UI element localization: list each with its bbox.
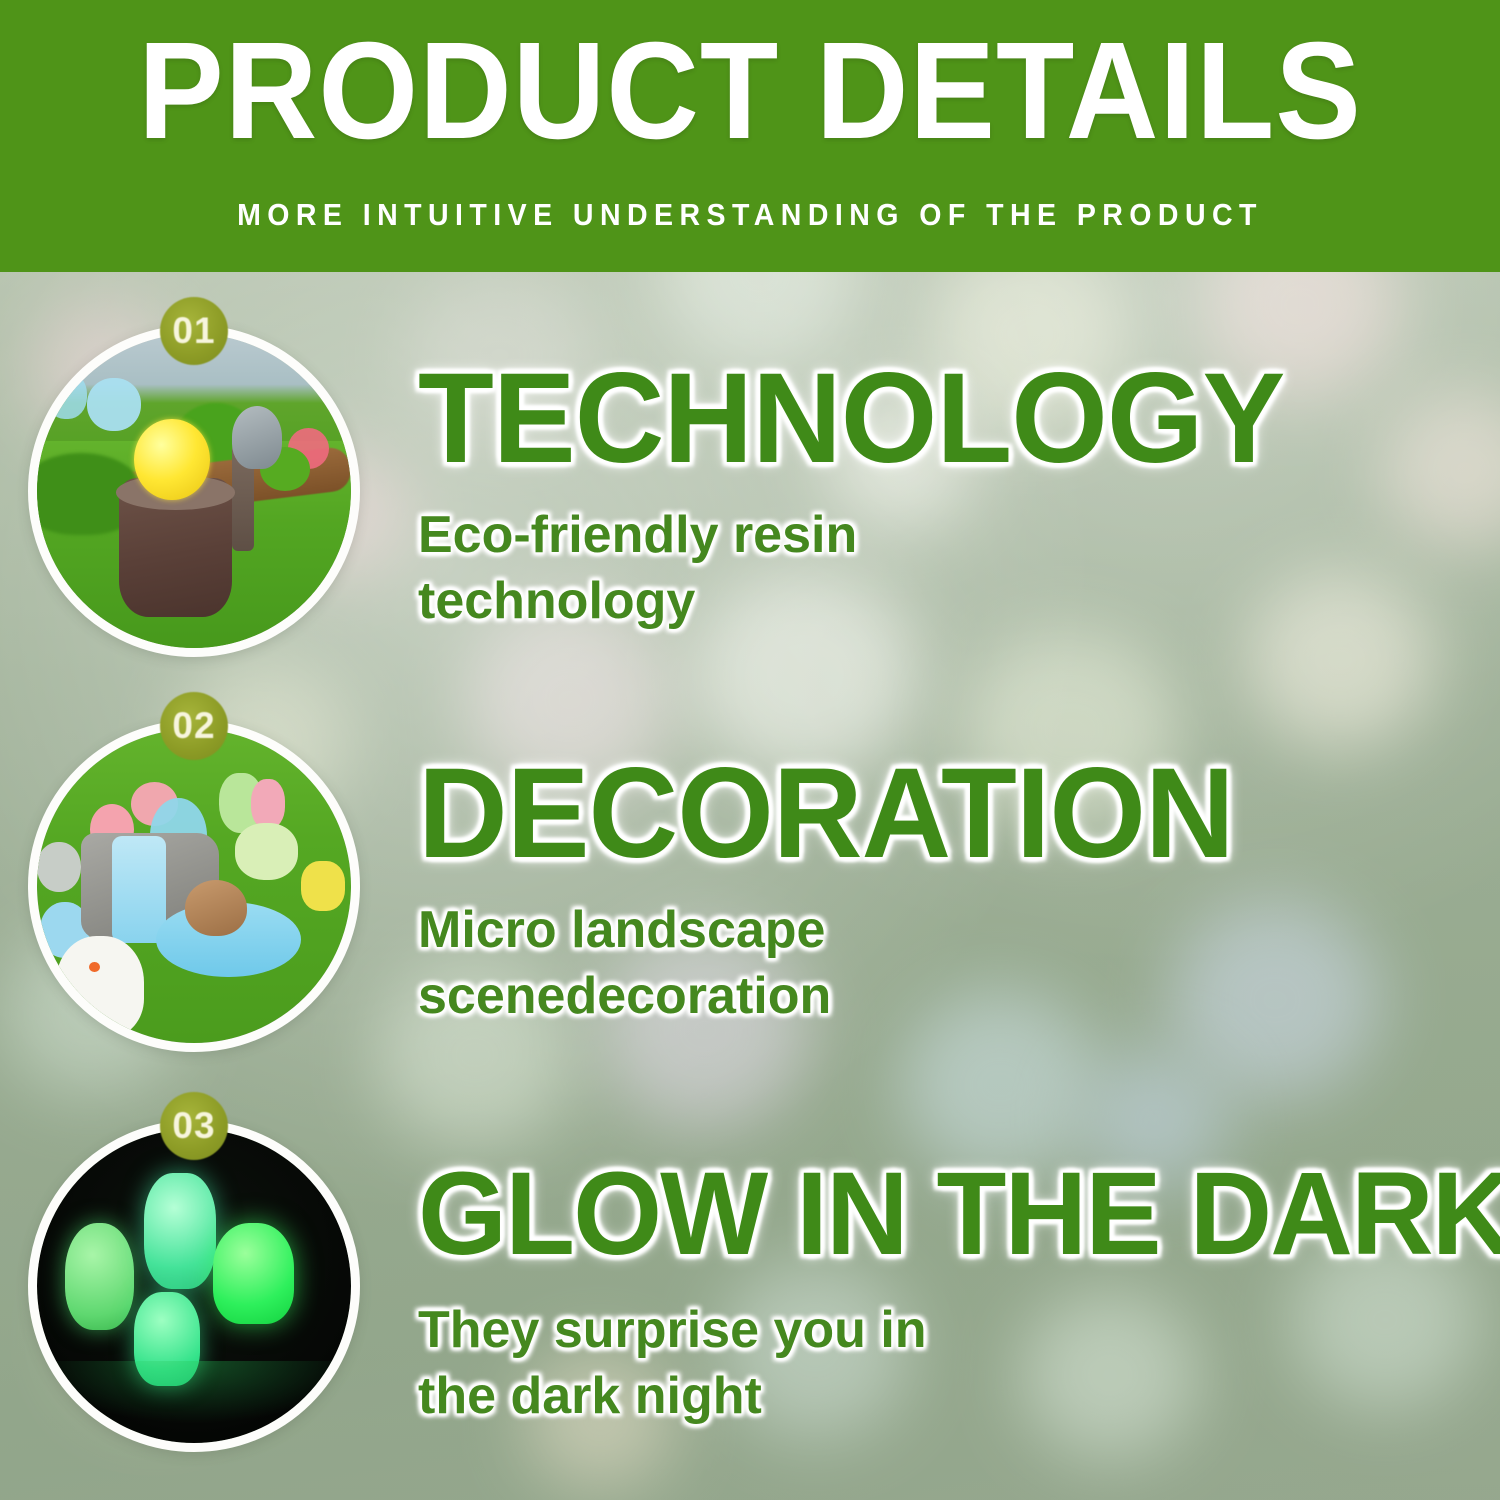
feature-title: GLOW IN THE DARK [418, 1151, 1456, 1277]
product-details-infographic: PRODUCT DETAILS MORE INTUITIVE UNDERSTAN… [0, 0, 1500, 1500]
feature-subtitle-line-2: scenedecoration [418, 963, 1488, 1029]
feature-image-glow-in-the-dark[interactable]: 03 [28, 1120, 360, 1452]
scene-glow-figurine-unicorn [144, 1173, 216, 1289]
scene-resin-stump [37, 334, 351, 648]
circle-frame [28, 1120, 360, 1452]
scene-glow-dark [37, 1129, 351, 1443]
feature-subtitle-line-2: the dark night [418, 1363, 1488, 1429]
feature-subtitle-line-1: Eco-friendly resin [418, 502, 1488, 568]
scene-penguin-beak [89, 962, 100, 972]
scene-figurine-squirrel [232, 406, 282, 469]
feature-text-technology: TECHNOLOGY Eco-friendly resin technology [418, 356, 1488, 634]
page-title: PRODUCT DETAILS [53, 16, 1448, 166]
circle-photo [37, 729, 351, 1043]
feature-image-decoration[interactable]: 02 [28, 720, 360, 1052]
scene-glow-reflection [37, 1361, 351, 1424]
scene-figurine-pink [251, 779, 286, 829]
feature-badge-01: 01 [160, 297, 228, 365]
scene-figurine-yellow [301, 861, 345, 911]
scene-figurine-capybara [185, 880, 248, 937]
circle-photo [37, 334, 351, 648]
feature-title: DECORATION [418, 751, 1456, 877]
feature-text-glow-in-the-dark: GLOW IN THE DARK They surprise you in th… [418, 1151, 1488, 1429]
scene-waterfall [112, 836, 165, 943]
feature-subtitle: Micro landscape scenedecoration [418, 897, 1488, 1029]
feature-row-decoration: 02 DECORATION Micro landscape scenedecor… [0, 695, 1500, 1095]
feature-row-glow-in-the-dark: 03 GLOW IN THE DARK They surprise you in… [0, 1095, 1500, 1495]
scene-figurine-cat [87, 378, 140, 431]
feature-image-technology[interactable]: 01 [28, 325, 360, 657]
feature-subtitle: They surprise you in the dark night [418, 1297, 1488, 1429]
scene-glow-figurine-dog [65, 1223, 134, 1330]
feature-badge-02: 02 [160, 692, 228, 760]
scene-glow-figurine-frog [213, 1223, 295, 1323]
scene-figurine-penguin [56, 936, 144, 1036]
feature-title: TECHNOLOGY [418, 356, 1456, 482]
scene-figurine-frog [235, 823, 298, 880]
feature-badge-03: 03 [160, 1092, 228, 1160]
circle-frame [28, 720, 360, 1052]
feature-subtitle-line-2: technology [418, 568, 1488, 634]
feature-subtitle: Eco-friendly resin technology [418, 502, 1488, 634]
page-subtitle: MORE INTUITIVE UNDERSTANDING OF THE PROD… [60, 196, 1440, 234]
scene-waterfall-pond [37, 729, 351, 1043]
circle-frame [28, 325, 360, 657]
feature-row-technology: 01 TECHNOLOGY Eco-friendly resin technol… [0, 300, 1500, 700]
scene-figurine-yellow-resin [134, 419, 209, 501]
circle-photo [37, 1129, 351, 1443]
feature-text-decoration: DECORATION Micro landscape scenedecorati… [418, 751, 1488, 1029]
feature-subtitle-line-1: They surprise you in [418, 1297, 1488, 1363]
feature-subtitle-line-1: Micro landscape [418, 897, 1488, 963]
scene-figurine-blue [46, 372, 87, 419]
scene-figurine-grey [37, 842, 81, 892]
header-banner: PRODUCT DETAILS MORE INTUITIVE UNDERSTAN… [0, 0, 1500, 272]
